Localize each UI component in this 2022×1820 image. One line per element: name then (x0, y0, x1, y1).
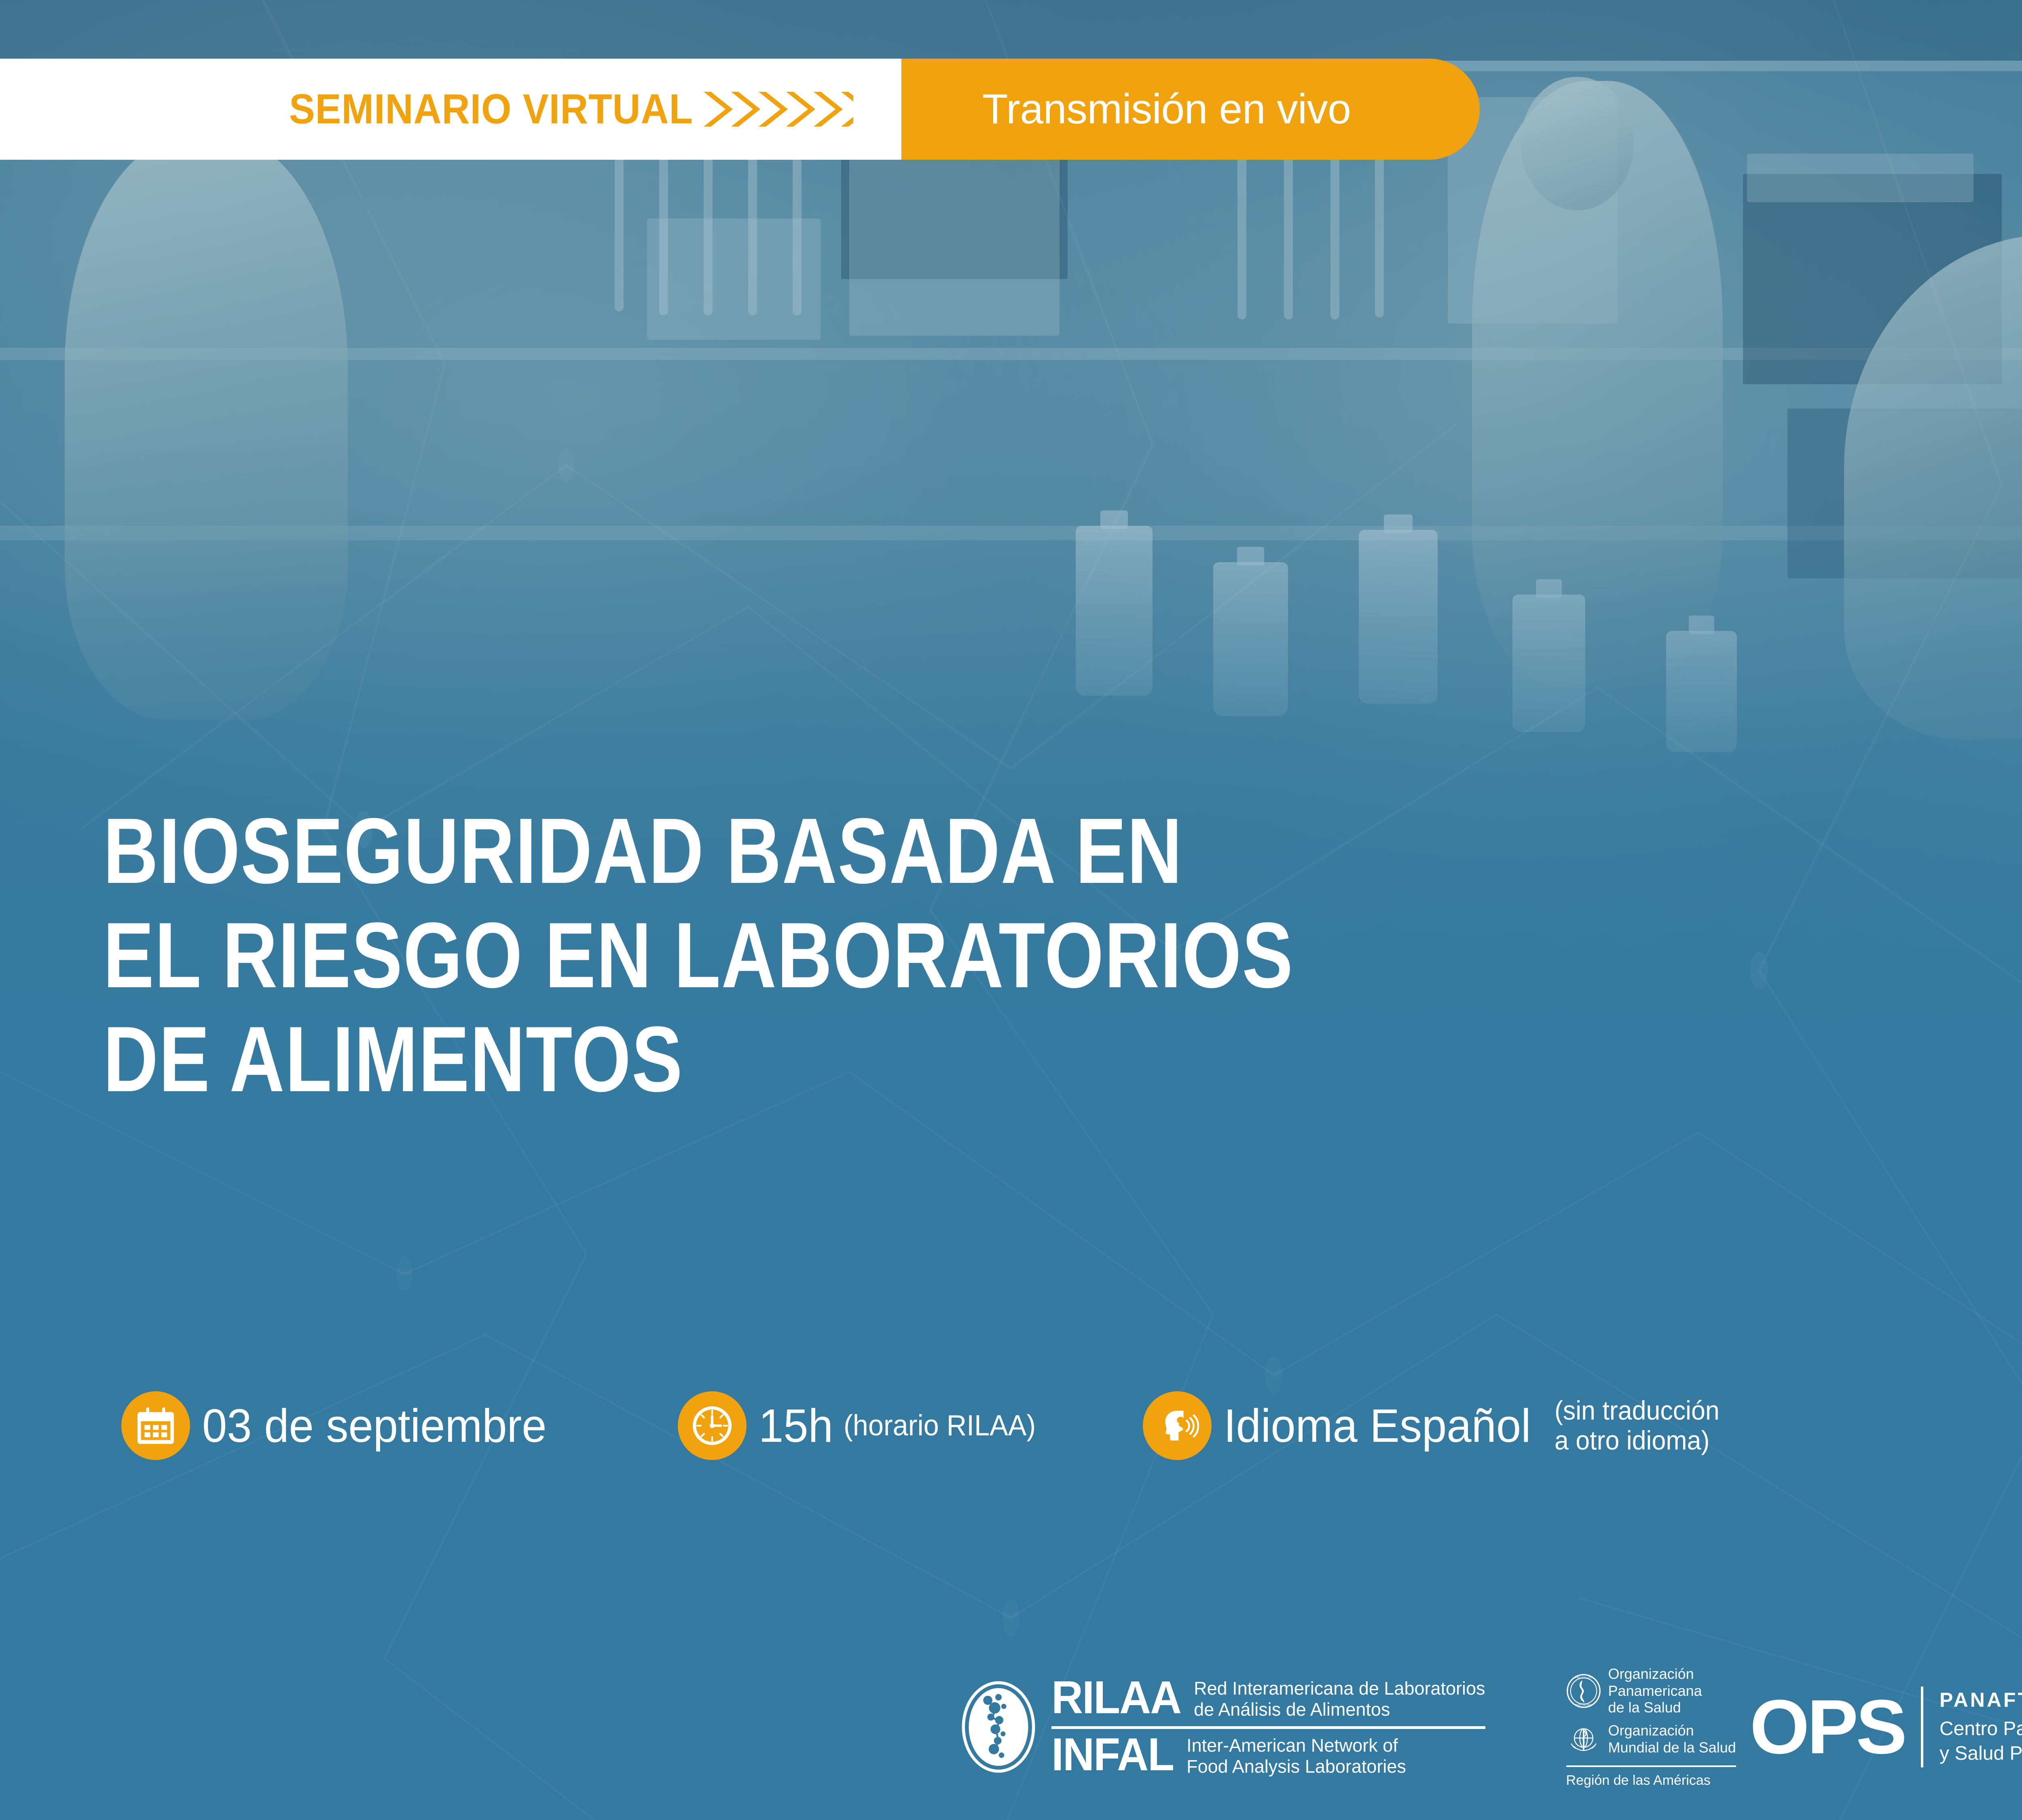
page-title: BIOSEGURIDAD BASADA EN EL RIESGO EN LABO… (103, 799, 2022, 1111)
infal-description: Inter-American Network of Food Analysis … (1187, 1735, 1406, 1777)
rilaa-text-block: RILAA Red Interamericana de Laboratorios… (1051, 1677, 1485, 1778)
seminar-label: SEMINARIO VIRTUAL (289, 85, 693, 133)
who-line-2: Mundial de la Salud (1608, 1739, 1736, 1756)
title-line-3: DE ALIMENTOS (103, 1007, 1861, 1111)
svg-text:PRO SALUTE: PRO SALUTE (1575, 1676, 1592, 1679)
rilaa-infal-logo: RILAA Red Interamericana de Laboratorios… (960, 1677, 1485, 1778)
svg-text:NOVI MUNDI: NOVI MUNDI (1575, 1704, 1591, 1706)
meta-date: 03 de septiembre (121, 1391, 565, 1460)
clock-glyph (690, 1404, 734, 1448)
infal-desc-line-1: Inter-American Network of (1187, 1735, 1398, 1756)
paho-name: Organización Panamericana de la Salud (1608, 1666, 1702, 1716)
date-value: 03 de septiembre (202, 1399, 547, 1453)
rilaa-emblem-icon (960, 1680, 1037, 1773)
panaftosa-sub-line-2: y Salud Pública Veterinaria (1940, 1743, 2022, 1764)
rilaa-row: RILAA Red Interamericana de Laboratorios… (1051, 1677, 1485, 1721)
paho-row: PRO SALUTE NOVI MUNDI Organización Panam… (1566, 1666, 1736, 1716)
paho-line-1: Organización (1608, 1666, 1694, 1682)
paho-seal-icon: PRO SALUTE NOVI MUNDI (1566, 1674, 1601, 1708)
speaking-head-icon (1143, 1391, 1212, 1460)
panaftosa-subtitle: Centro Panamericano de Fiebre Aftosa y S… (1940, 1716, 2022, 1766)
time-value: 15h (759, 1399, 833, 1453)
ops-region-label: Región de las Américas (1566, 1765, 1736, 1788)
infal-row: INFAL Inter-American Network of Food Ana… (1051, 1734, 1485, 1778)
ops-org-block: PRO SALUTE NOVI MUNDI Organización Panam… (1566, 1666, 1736, 1788)
panaftosa-sub-line-1: Centro Panamericano de Fiebre Aftosa (1940, 1718, 2022, 1740)
event-meta-row: 03 de septiembre (121, 1391, 1728, 1460)
chevrons-svg (704, 87, 874, 131)
ops-wordmark: OPS (1750, 1693, 1905, 1762)
panaftosa-title: PANAFTOSA (1940, 1688, 2022, 1712)
ops-divider (1921, 1687, 1923, 1767)
footer-logos: RILAA Red Interamericana de Laboratorios… (0, 1642, 2022, 1812)
title-line-1: BIOSEGURIDAD BASADA EN (103, 799, 1861, 903)
webinar-banner: SEMINARIO VIRTUAL Transmisión en vivo (0, 0, 2022, 1820)
ribbon-white-section: SEMINARIO VIRTUAL (0, 59, 902, 160)
top-ribbon: SEMINARIO VIRTUAL Transmisión en vivo (0, 59, 1480, 160)
language-note-line-1: (sin traducción (1555, 1395, 1720, 1425)
ribbon-orange-section: Transmisión en vivo (901, 59, 1480, 160)
who-emblem-icon (1566, 1722, 1601, 1757)
who-name: Organización Mundial de la Salud (1608, 1722, 1736, 1756)
rilaa-desc-line-2: de Análisis de Alimentos (1194, 1699, 1390, 1720)
calendar-glyph (135, 1405, 177, 1447)
time-note: (horario RILAA) (844, 1409, 1036, 1442)
paho-line-2: Panamericana (1608, 1682, 1702, 1699)
ops-panaftosa-logo: PRO SALUTE NOVI MUNDI Organización Panam… (1566, 1666, 2022, 1788)
rilaa-description: Red Interamericana de Laboratorios de An… (1194, 1678, 1485, 1720)
who-line-1: Organización (1608, 1722, 1694, 1739)
chevron-arrows-icon (704, 87, 874, 131)
language-note-line-2: a otro idioma) (1555, 1425, 1709, 1455)
language-value: Idioma Español (1224, 1399, 1531, 1453)
paho-line-3: de la Salud (1608, 1699, 1681, 1716)
panaftosa-block: PANAFTOSA Centro Panamericano de Fiebre … (1940, 1688, 2022, 1766)
who-row: Organización Mundial de la Salud (1566, 1722, 1736, 1757)
meta-language: Idioma Español (sin traducción a otro id… (1143, 1391, 1728, 1460)
rilaa-desc-line-1: Red Interamericana de Laboratorios (1194, 1678, 1485, 1699)
live-stream-label: Transmisión en vivo (982, 85, 1351, 133)
meta-time: 15h (horario RILAA) (678, 1391, 1046, 1460)
language-note: (sin traducción a otro idioma) (1555, 1396, 1720, 1456)
speaking-head-glyph (1155, 1404, 1199, 1448)
calendar-icon (121, 1391, 190, 1460)
clock-icon (678, 1391, 747, 1460)
infal-abbr: INFAL (1051, 1731, 1174, 1777)
title-line-2: EL RIESGO EN LABORATORIOS (103, 903, 1861, 1007)
infal-desc-line-2: Food Analysis Laboratories (1187, 1756, 1406, 1777)
rilaa-abbr: RILAA (1051, 1674, 1181, 1720)
